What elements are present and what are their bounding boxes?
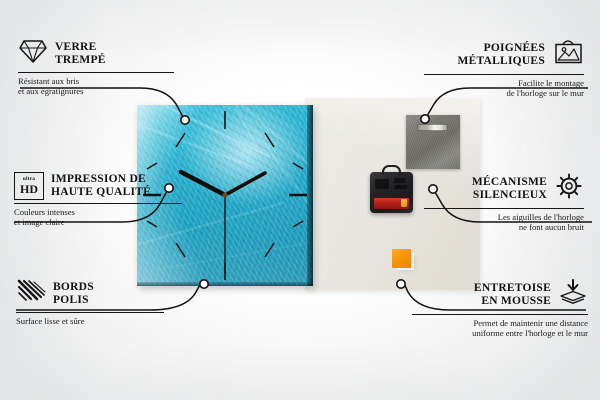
feature-subtitle: Les aiguilles de l'horloge ne font aucun… <box>424 212 584 233</box>
feature-title: IMPRESSION DE HAUTE QUALITÉ <box>51 173 151 198</box>
feature-entretoise-en-mousse: ENTRETOISE EN MOUSSE Permet de maintenir… <box>412 278 588 339</box>
feature-impression-haute-qualite: ultra HD IMPRESSION DE HAUTE QUALITÉ Cou… <box>14 172 186 228</box>
metal-hanger-plate <box>406 115 460 169</box>
hour-hand <box>181 172 225 195</box>
feature-header: ultra HD IMPRESSION DE HAUTE QUALITÉ <box>14 172 186 200</box>
ultra-hd-badge-icon: ultra HD <box>14 172 44 200</box>
clock-hands <box>181 172 265 273</box>
feature-verre-trempe: VERRE TREMPÉ Résistant aux bris et aux é… <box>18 38 176 97</box>
battery: + <box>374 198 409 209</box>
gear-icon <box>554 172 584 205</box>
feature-header: MÉCANISME SILENCIEUX <box>424 172 584 205</box>
feature-poignees-metalliques: POIGNÉES MÉTALLIQUES Facilite le montage… <box>424 38 584 99</box>
feature-divider <box>18 72 174 73</box>
feature-title: ENTRETOISE EN MOUSSE <box>474 282 551 307</box>
feature-subtitle: Surface lisse et sûre <box>16 316 166 326</box>
feature-header: ENTRETOISE EN MOUSSE <box>412 278 588 311</box>
feature-subtitle: Permet de maintenir une distance uniform… <box>412 318 588 339</box>
feature-divider <box>424 74 584 75</box>
hands-hub <box>222 192 227 197</box>
foam-spacer <box>392 249 411 268</box>
feature-title: POIGNÉES MÉTALLIQUES <box>457 42 545 67</box>
diamond-icon <box>18 38 48 69</box>
feature-header: BORDS POLIS <box>16 278 166 309</box>
feature-subtitle: Résistant aux bris et aux égratignures <box>18 76 176 97</box>
mechanism-detail <box>375 179 389 189</box>
foam-spacer-icon <box>558 278 588 311</box>
hanger-keyhole-slot <box>417 124 448 131</box>
battery-plus-sign: + <box>401 200 406 205</box>
picture-hanger-icon <box>552 38 584 71</box>
ultra-hd-large-label: HD <box>20 183 38 195</box>
feature-mecanisme-silencieux: MÉCANISME SILENCIEUX Les aiguilles de l'… <box>424 172 584 233</box>
feature-divider <box>16 312 164 313</box>
feature-divider <box>424 208 584 209</box>
mechanism-hanging-loop <box>382 165 401 175</box>
quartz-mechanism: + <box>370 172 413 213</box>
glass-right-edge <box>307 105 313 286</box>
feature-header: VERRE TREMPÉ <box>18 38 176 69</box>
mechanism-detail <box>394 178 405 183</box>
feature-subtitle: Facilite le montage de l'horloge sur le … <box>424 78 584 99</box>
feature-title: BORDS POLIS <box>53 281 94 306</box>
feature-bords-polis: BORDS POLIS Surface lisse et sûre <box>16 278 166 326</box>
polished-edges-icon <box>16 278 46 309</box>
feature-header: POIGNÉES MÉTALLIQUES <box>424 38 584 71</box>
feature-divider <box>412 314 588 315</box>
feature-subtitle: Couleurs intenses et image claire <box>14 207 186 228</box>
feature-title: MÉCANISME SILENCIEUX <box>472 176 547 201</box>
minute-hand <box>225 173 265 195</box>
feature-divider <box>14 203 182 204</box>
feature-title: VERRE TREMPÉ <box>55 41 106 66</box>
infographic-canvas: + <box>0 0 600 400</box>
mechanism-detail <box>395 185 407 189</box>
